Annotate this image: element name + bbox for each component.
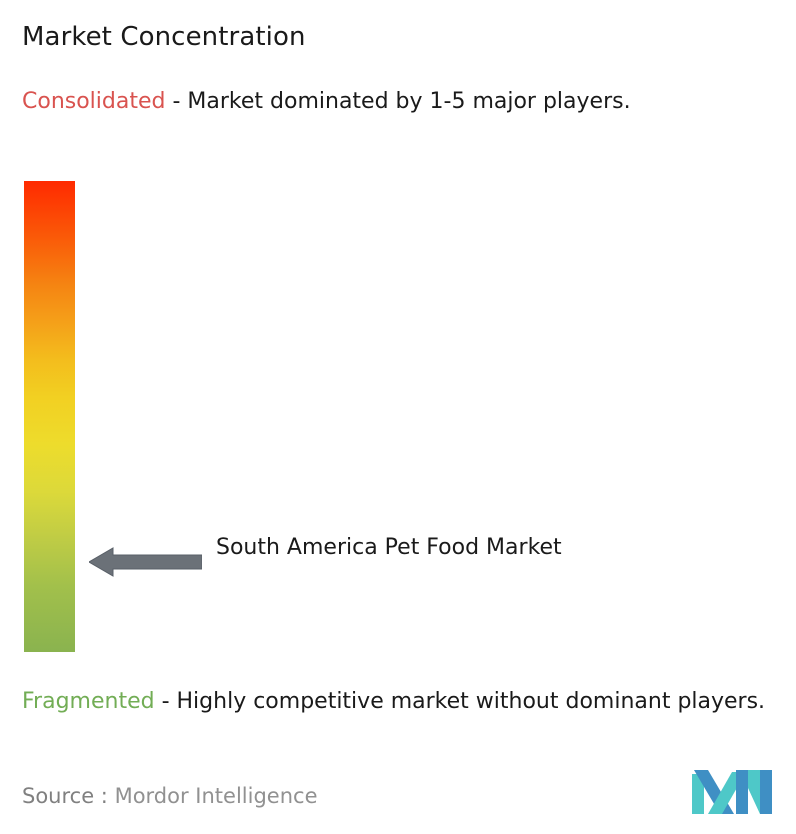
legend-fragmented: Fragmented - Highly competitive market w… [22, 687, 794, 717]
legend-description-fragmented: - Highly competitive market without domi… [155, 689, 765, 714]
legend-key-fragmented: Fragmented [22, 689, 155, 714]
legend-key-consolidated: Consolidated [22, 89, 165, 114]
legend-consolidated: Consolidated - Market dominated by 1-5 m… [22, 87, 782, 117]
concentration-gradient-bar [24, 181, 75, 652]
source-attribution: Source : Mordor Intelligence [22, 782, 317, 810]
left-arrow-icon [89, 545, 202, 579]
source-label: Source : [22, 784, 108, 808]
market-concentration-infographic: Market Concentration Consolidated - Mark… [0, 0, 796, 834]
callout-label-market: South America Pet Food Market [216, 530, 636, 565]
legend-description-consolidated: - Market dominated by 1-5 major players. [165, 89, 630, 114]
source-value: Mordor Intelligence [115, 784, 318, 808]
mordor-intelligence-logo [692, 766, 774, 818]
page-title: Market Concentration [22, 20, 306, 54]
